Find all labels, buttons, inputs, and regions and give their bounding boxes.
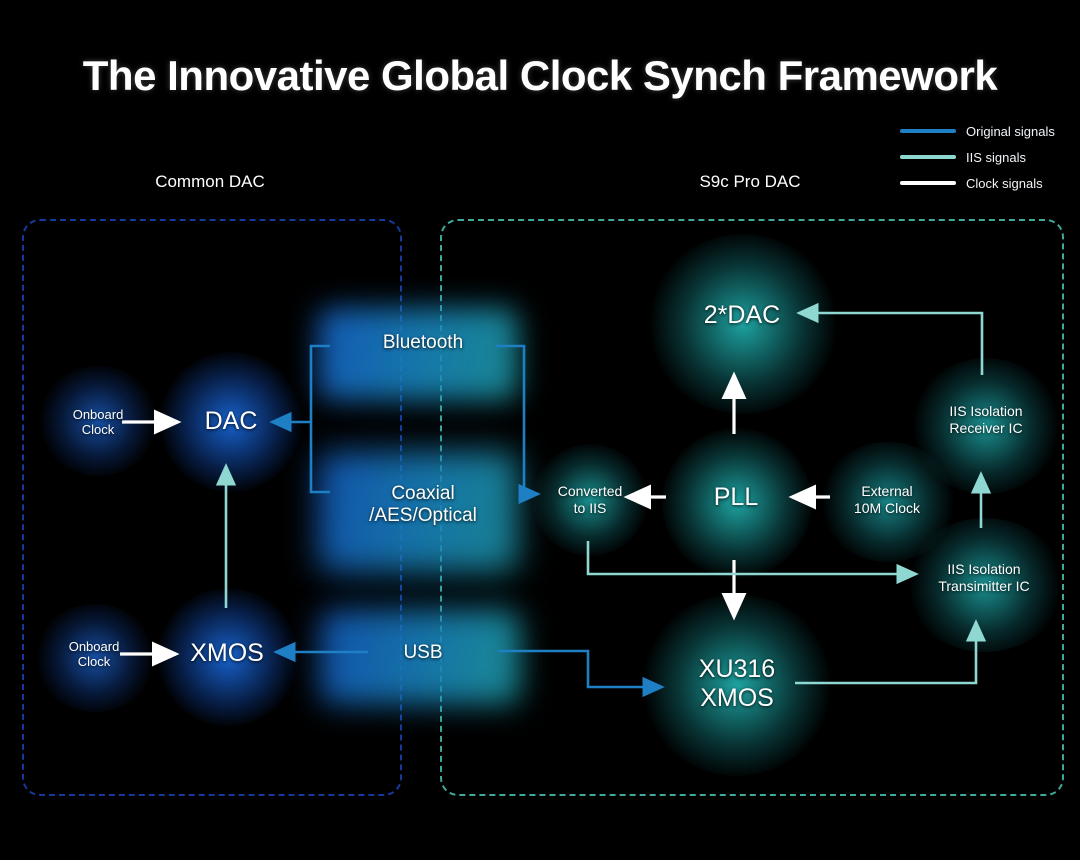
node-iis-isolation-transimitter-ic: IIS Isolation Transimitter IC: [904, 556, 1064, 600]
node-converted-to-iis: Converted to IIS: [538, 478, 642, 522]
node-xu316-xmos: XU316 XMOS: [662, 650, 812, 718]
node-external-10m-clock-line1: External: [861, 483, 912, 500]
node-xu316-xmos-line2: XMOS: [700, 684, 774, 714]
node-usb: USB: [330, 638, 516, 668]
node-external-10m-clock-line2: 10M Clock: [854, 500, 920, 517]
node-iis-isolation-receiver-ic-line1: IIS Isolation: [949, 403, 1022, 420]
node-external-10m-clock: External 10M Clock: [826, 478, 948, 522]
node-2x-dac-label: 2*DAC: [704, 301, 780, 331]
node-onboard-clock-top: Onboard Clock: [44, 396, 152, 448]
wire-converted-iis-to-iis-tx: [588, 541, 916, 574]
node-iis-isolation-receiver-ic-line2: Receiver IC: [949, 420, 1022, 437]
node-usb-label: USB: [403, 642, 442, 664]
node-dac: DAC: [176, 404, 286, 440]
node-onboard-clock-bottom: Onboard Clock: [40, 628, 148, 680]
wire-usb-to-xu316-xmos: [498, 651, 662, 687]
node-iis-isolation-transimitter-ic-line2: Transimitter IC: [938, 578, 1029, 595]
node-xu316-xmos-line1: XU316: [699, 655, 775, 685]
wire-sources-to-converted-iis: [496, 346, 538, 494]
node-iis-isolation-receiver-ic: IIS Isolation Receiver IC: [912, 398, 1060, 442]
node-coaxial-line2: /AES/Optical: [369, 505, 477, 527]
node-coaxial-line1: Coaxial: [391, 483, 454, 505]
wire-xu316-xmos-to-iis-tx: [795, 622, 976, 683]
diagram-canvas: The Innovative Global Clock Synch Framew…: [0, 0, 1080, 860]
node-bluetooth: Bluetooth: [330, 328, 516, 358]
node-bluetooth-label: Bluetooth: [383, 332, 463, 354]
node-onboard-clock-top-line1: Onboard: [73, 407, 124, 422]
node-iis-isolation-transimitter-ic-line1: IIS Isolation: [947, 561, 1020, 578]
node-2x-dac: 2*DAC: [672, 298, 812, 334]
node-coaxial-aes-optical: Coaxial /AES/Optical: [326, 474, 520, 536]
node-xmos-label: XMOS: [190, 639, 264, 669]
node-onboard-clock-bottom-line1: Onboard: [69, 639, 120, 654]
node-onboard-clock-top-line2: Clock: [82, 422, 115, 437]
node-onboard-clock-bottom-line2: Clock: [78, 654, 111, 669]
wire-sources-to-dac: [311, 346, 330, 492]
wire-iis-rx-to-2x-dac: [799, 313, 982, 375]
node-dac-label: DAC: [205, 407, 258, 437]
node-converted-to-iis-line2: to IIS: [574, 500, 607, 517]
node-pll-label: PLL: [714, 483, 758, 513]
node-pll: PLL: [684, 480, 788, 516]
node-converted-to-iis-line1: Converted: [558, 483, 623, 500]
node-xmos: XMOS: [172, 636, 282, 672]
